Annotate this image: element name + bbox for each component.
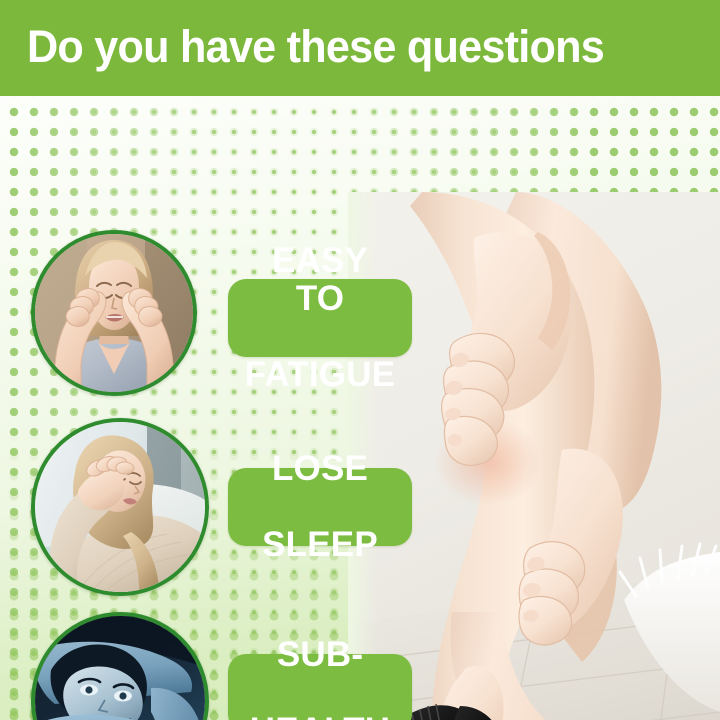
label-line-1: EASY TO — [233, 242, 407, 318]
label-line-2: HEALTH — [238, 712, 403, 720]
label-line-1: SUB- — [238, 636, 403, 674]
woman-headache-photo — [31, 230, 197, 396]
woman-insomnia-photo — [31, 418, 209, 596]
page-title: Do you have these questions — [27, 18, 689, 76]
poster-background: EASY TOFATIGUE LOSESLEEP SUB-HEALTH — [0, 96, 720, 720]
product-infographic-poster: EASY TOFATIGUE LOSESLEEP SUB-HEALTH Do y… — [0, 0, 720, 720]
symptom-label-sub-health: SUB-HEALTH — [228, 654, 412, 720]
label-line-1: LOSE — [250, 450, 390, 488]
label-line-2: FATIGUE — [233, 356, 407, 394]
symptom-label-easy-to-fatigue: EASY TOFATIGUE — [228, 279, 412, 357]
symptom-label-text: LOSESLEEP — [238, 450, 402, 564]
label-line-2: SLEEP — [250, 526, 390, 564]
symptom-label-text: SUB-HEALTH — [226, 636, 415, 720]
header-band: Do you have these questions — [0, 0, 720, 96]
symptom-label-text: EASY TOFATIGUE — [221, 242, 419, 394]
symptom-label-lose-sleep: LOSESLEEP — [228, 468, 412, 546]
